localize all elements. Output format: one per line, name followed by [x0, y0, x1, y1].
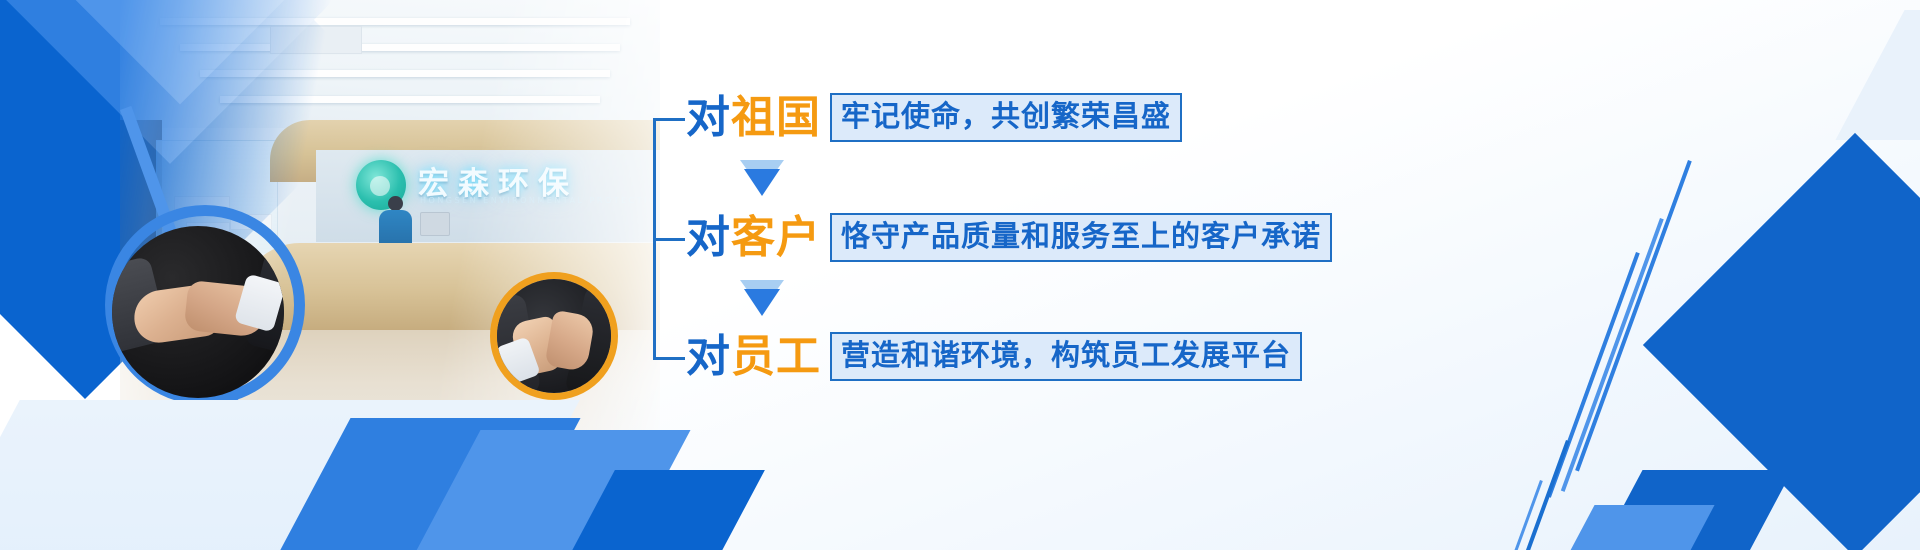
down-arrow-icon-2-body [744, 289, 780, 316]
value-row-country-keyword: 祖国 [731, 92, 821, 143]
value-row-employee-title: 对员工 [686, 335, 821, 379]
value-row-country-statement: 牢记使命，共创繁荣昌盛 [830, 93, 1182, 142]
value-row-country: 对祖国 牢记使命，共创繁荣昌盛 [686, 93, 1182, 142]
value-row-customer-prefix: 对 [686, 212, 731, 263]
applause-photo [497, 279, 611, 393]
corporate-values-banner: 宏森环保 HONGSEN ENVIRONMENTAL PROTECTION [0, 0, 1920, 550]
down-arrow-icon-1 [740, 160, 784, 196]
value-row-employee-keyword: 员工 [731, 331, 821, 382]
value-row-customer-title: 对客户 [686, 216, 821, 260]
value-row-customer-statement: 恪守产品质量和服务至上的客户承诺 [830, 213, 1332, 262]
company-logo-inner-icon [370, 176, 390, 196]
decor-right-pale-panel [1835, 10, 1920, 140]
photo-ceiling-light-2 [180, 44, 620, 51]
photo-monitor [420, 212, 450, 236]
value-row-employee-prefix: 对 [686, 331, 731, 382]
value-row-country-prefix: 对 [686, 92, 731, 143]
photo-ceiling-light-4 [220, 96, 600, 103]
photo-receptionist-head [388, 196, 403, 211]
decor-diagonal-line-5 [1499, 480, 1543, 550]
bracket-tick-2 [653, 238, 685, 241]
handshake-photo [112, 226, 284, 398]
value-row-country-title: 对祖国 [686, 96, 821, 140]
decor-diagonal-line-2 [1561, 218, 1664, 492]
decor-right-bottom-light-panel [1525, 505, 1714, 550]
value-row-employee-statement: 营造和谐环境，构筑员工发展平台 [830, 332, 1302, 381]
photo-ceiling-light-1 [160, 18, 630, 25]
photo-ceiling-light-3 [200, 70, 610, 77]
value-row-customer: 对客户 恪守产品质量和服务至上的客户承诺 [686, 213, 1332, 262]
down-arrow-icon-1-body [744, 169, 780, 196]
bracket-tick-3 [653, 357, 685, 360]
bracket-tick-1 [653, 118, 685, 121]
down-arrow-icon-2 [740, 280, 784, 316]
photo-ceiling-vent [270, 26, 362, 54]
value-row-customer-keyword: 客户 [731, 212, 821, 263]
company-sign-subtitle: HONGSEN ENVIRONMENTAL PROTECTION [420, 196, 660, 205]
value-row-employee: 对员工 营造和谐环境，构筑员工发展平台 [686, 332, 1302, 381]
